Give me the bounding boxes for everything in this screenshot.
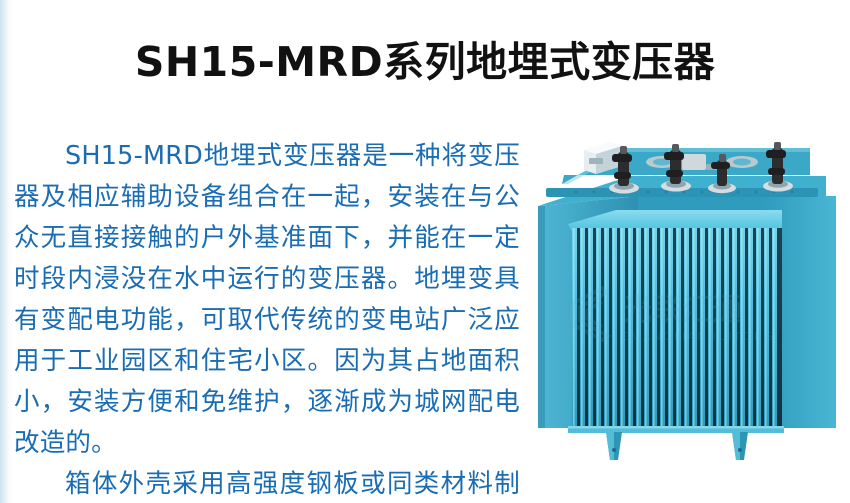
mounting-legs [606,432,748,460]
radiator-fin-bank [568,210,784,433]
paragraph-1: SH15-MRD地埋式变压器是一种将变压器及相应辅助设备组合在一起，安装在与公众… [14,136,520,464]
fin-columns [572,228,782,428]
product-photo [510,128,850,468]
leg-left-bolt-hole [612,448,616,452]
deck-terminal-box [682,154,706,170]
tank-left-edge-shadow [538,206,545,428]
leg-right-highlight [732,432,740,460]
fin-bank-bottom-highlight [568,426,784,429]
description-text-block: SH15-MRD地埋式变压器是一种将变压器及相应辅助设备组合在一起，安装在与公众… [14,136,520,503]
leg-right-bolt-hole [738,448,742,452]
tap-changer-label [589,158,603,164]
paragraph-2: 箱体外壳采用高强度钢板或同类材料制作高低压进出线电缆采用防水全密封、全绝缘、全屏… [14,464,520,503]
leg-left-highlight [606,432,614,460]
poster-canvas: SH15-MRD系列地埋式变压器 SH15-MRD地埋式变压器是一种将变压器及相… [0,0,850,503]
deck-flange-right-inner [733,159,751,166]
page-title: SH15-MRD系列地埋式变压器 [0,40,850,85]
